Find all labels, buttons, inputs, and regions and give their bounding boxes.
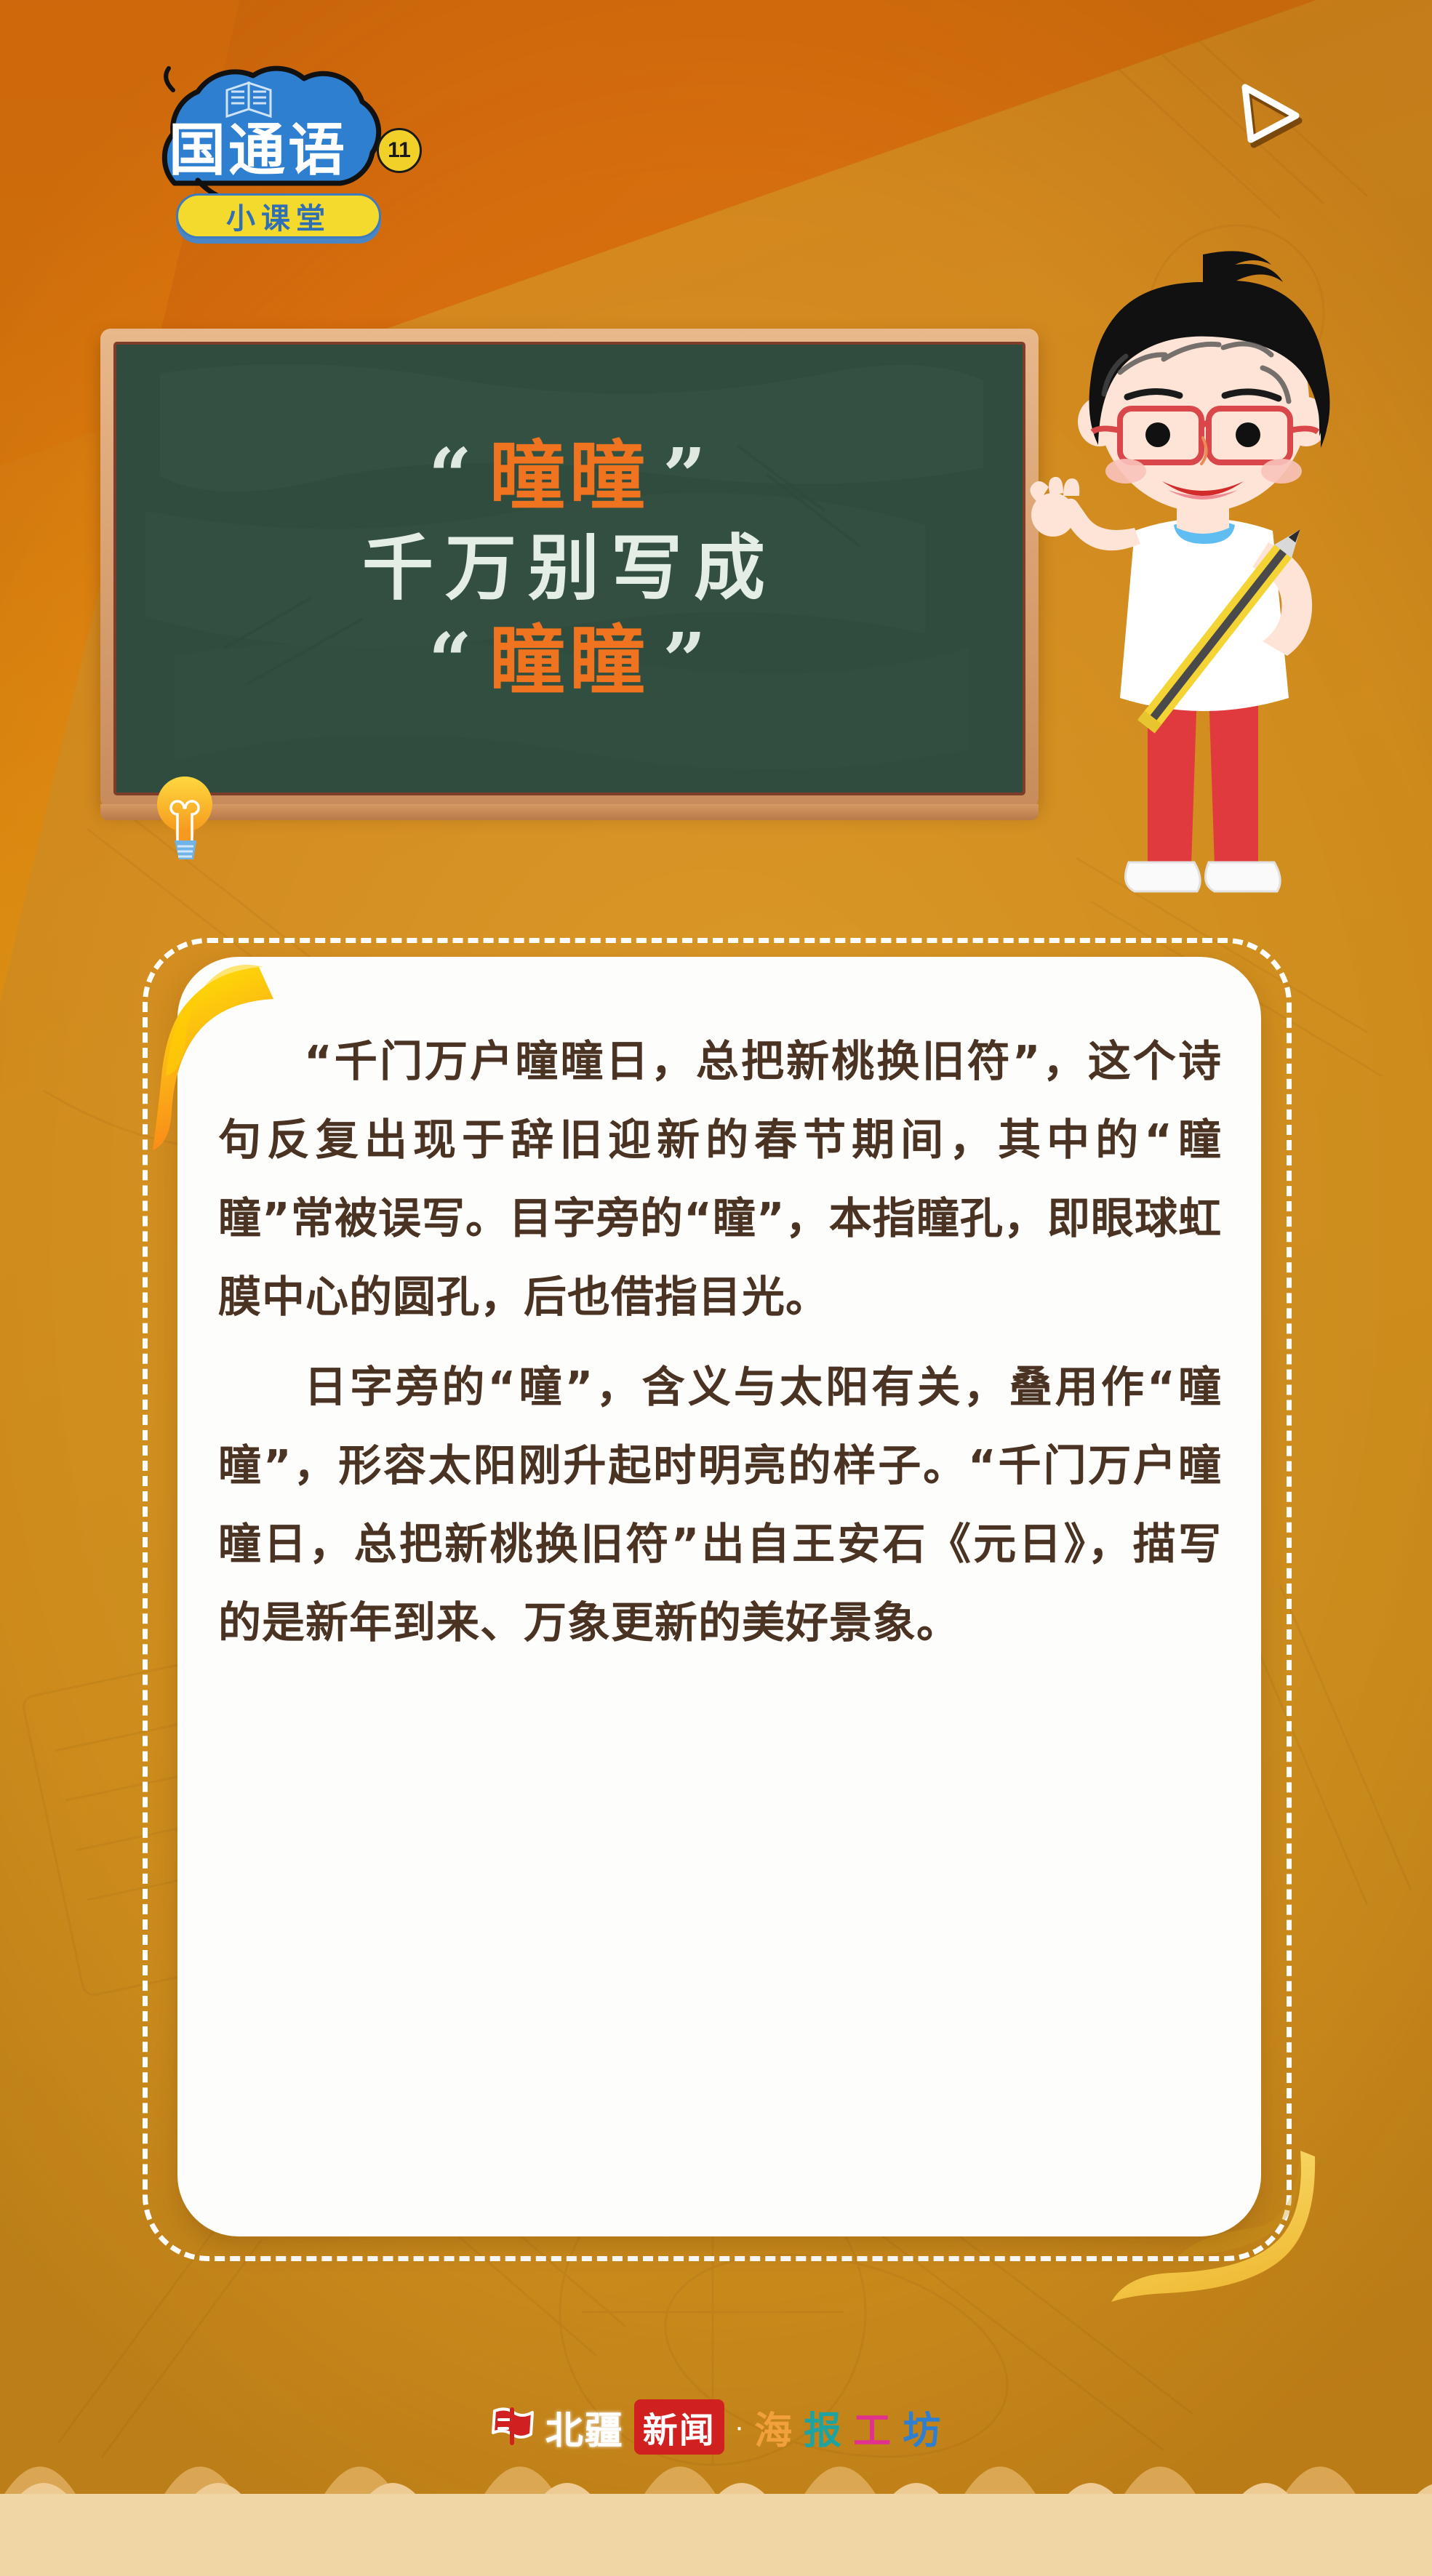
quote-open-1: “ <box>428 431 476 521</box>
blackboard-word-wrong: 瞳瞳 <box>489 616 649 705</box>
article-body: “千门万户曈曈日，总把新桃换旧符”，这个诗句反复出现于辞旧迎新的春节期间，其中的… <box>218 1022 1222 1662</box>
footer-studio-char-3: 工 <box>853 2400 892 2455</box>
footer-studio-char-2: 报 <box>804 2400 843 2455</box>
ribbon-corner-bottom-right <box>1053 2136 1344 2354</box>
footer-brand-name: 北疆 <box>545 2400 624 2455</box>
program-logo: 国通语 11 小课堂 <box>87 64 436 253</box>
quote-close-1: ” <box>663 431 711 521</box>
article-paragraph-1: “千门万户曈曈日，总把新桃换旧符”，这个诗句反复出现于辞旧迎新的春节期间，其中的… <box>218 1022 1222 1336</box>
play-triangle-icon <box>1235 81 1302 145</box>
blackboard-word-correct: 曈曈 <box>489 431 649 521</box>
footer-studio-char-4: 坊 <box>903 2400 942 2455</box>
blackboard-frame: “曈曈” 千万别写成 “瞳瞳” <box>100 329 1039 808</box>
blackboard: “曈曈” 千万别写成 “瞳瞳” <box>113 342 1025 795</box>
quote-open-2: “ <box>428 616 476 705</box>
footer-brand-badge: 新闻 <box>634 2399 724 2455</box>
red-flag-icon <box>490 2407 535 2447</box>
blackboard-line-3: “瞳瞳” <box>428 623 711 699</box>
quote-close-2: ” <box>663 616 711 705</box>
logo-subtitle: 小课堂 <box>176 193 381 238</box>
footer-branding: 北疆 新闻 · 海 报 工 坊 <box>0 2399 1432 2455</box>
footer-separator: · <box>735 2412 744 2441</box>
article-paragraph-2: 日字旁的“曈”，含义与太阳有关，叠用作“曈曈”，形容太阳刚升起时明亮的样子。“千… <box>218 1348 1222 1662</box>
lightbulb-icon <box>153 769 217 862</box>
logo-title: 国通语 <box>138 122 378 179</box>
blackboard-line-2: 千万别写成 <box>362 533 777 604</box>
footer-studio-char-1: 海 <box>754 2400 793 2455</box>
logo-episode-badge: 11 <box>377 128 422 173</box>
scallop-layer-3 <box>0 2494 1432 2576</box>
student-boy-illustration <box>1018 240 1389 923</box>
blackboard-line-1: “曈曈” <box>428 438 711 514</box>
